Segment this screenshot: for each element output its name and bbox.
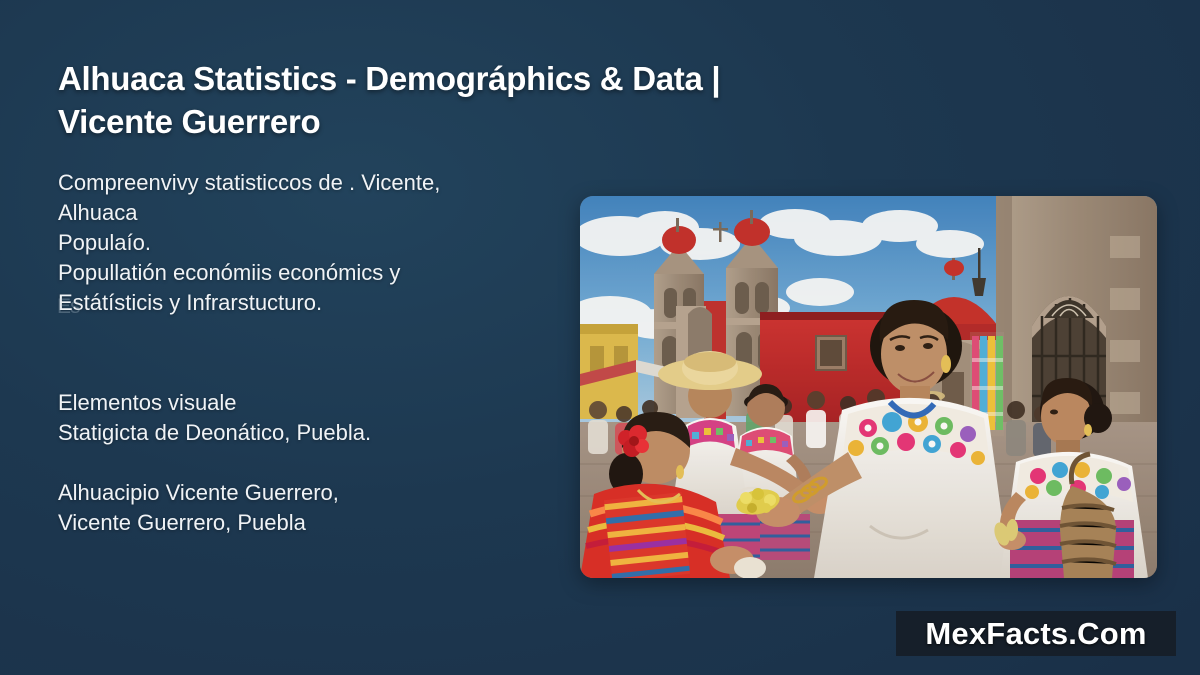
feature-photo — [580, 196, 1157, 578]
feature-photo-illustration — [580, 196, 1157, 578]
body-paragraph-2: Elementos visuale Statigicta de Deonátic… — [58, 388, 538, 448]
body-paragraph-1: Compreenvivy statisticcos de . Vicente, … — [58, 168, 538, 318]
body-paragraph-3: Alhuacipio Vicente Guerrero, Vicente Gue… — [58, 478, 538, 538]
slide-canvas: Alhuaca Statistics - Demográphics & Data… — [0, 0, 1200, 675]
watermark-label: MexFacts.Com — [925, 616, 1146, 652]
page-title: Alhuaca Statistics - Demográphics & Data… — [58, 58, 838, 144]
watermark-badge: MexFacts.Com — [896, 611, 1176, 656]
